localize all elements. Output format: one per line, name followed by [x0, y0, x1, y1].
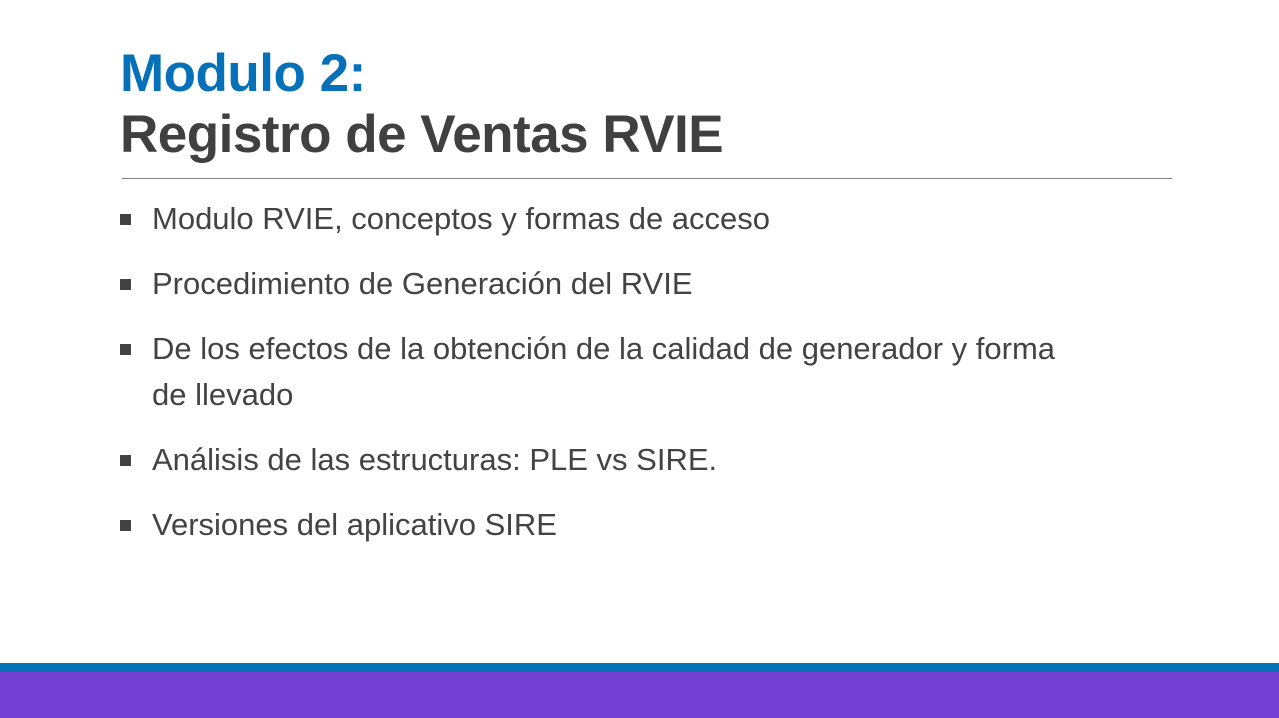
list-item-label: Versiones del aplicativo SIRE — [152, 502, 1082, 548]
title-divider-rule — [122, 178, 1172, 179]
slide-canvas: Modulo 2: Registro de Ventas RVIE Modulo… — [0, 0, 1279, 718]
list-item: Modulo RVIE, conceptos y formas de acces… — [120, 196, 1172, 242]
square-bullet-icon — [120, 279, 131, 290]
list-item-label: Procedimiento de Generación del RVIE — [152, 261, 1082, 307]
bullet-list: Modulo RVIE, conceptos y formas de acces… — [120, 196, 1172, 548]
footer-accent-bar-purple — [0, 672, 1279, 718]
list-item: Análisis de las estructuras: PLE vs SIRE… — [120, 437, 1172, 483]
slide-title: Modulo 2: Registro de Ventas RVIE — [120, 44, 1172, 166]
square-bullet-icon — [120, 344, 131, 355]
footer-accent-bar-blue — [0, 663, 1279, 672]
list-item: Versiones del aplicativo SIRE — [120, 502, 1172, 548]
list-item-label: Modulo RVIE, conceptos y formas de acces… — [152, 196, 1082, 242]
list-item: De los efectos de la obtención de la cal… — [120, 326, 1172, 418]
list-item-label: Análisis de las estructuras: PLE vs SIRE… — [152, 437, 1082, 483]
square-bullet-icon — [120, 520, 131, 531]
square-bullet-icon — [120, 455, 131, 466]
title-line-secondary: Registro de Ventas RVIE — [120, 104, 1172, 166]
square-bullet-icon — [120, 214, 131, 225]
list-item: Procedimiento de Generación del RVIE — [120, 261, 1172, 307]
title-line-primary: Modulo 2: — [120, 44, 1172, 104]
list-item-label: De los efectos de la obtención de la cal… — [152, 326, 1082, 418]
